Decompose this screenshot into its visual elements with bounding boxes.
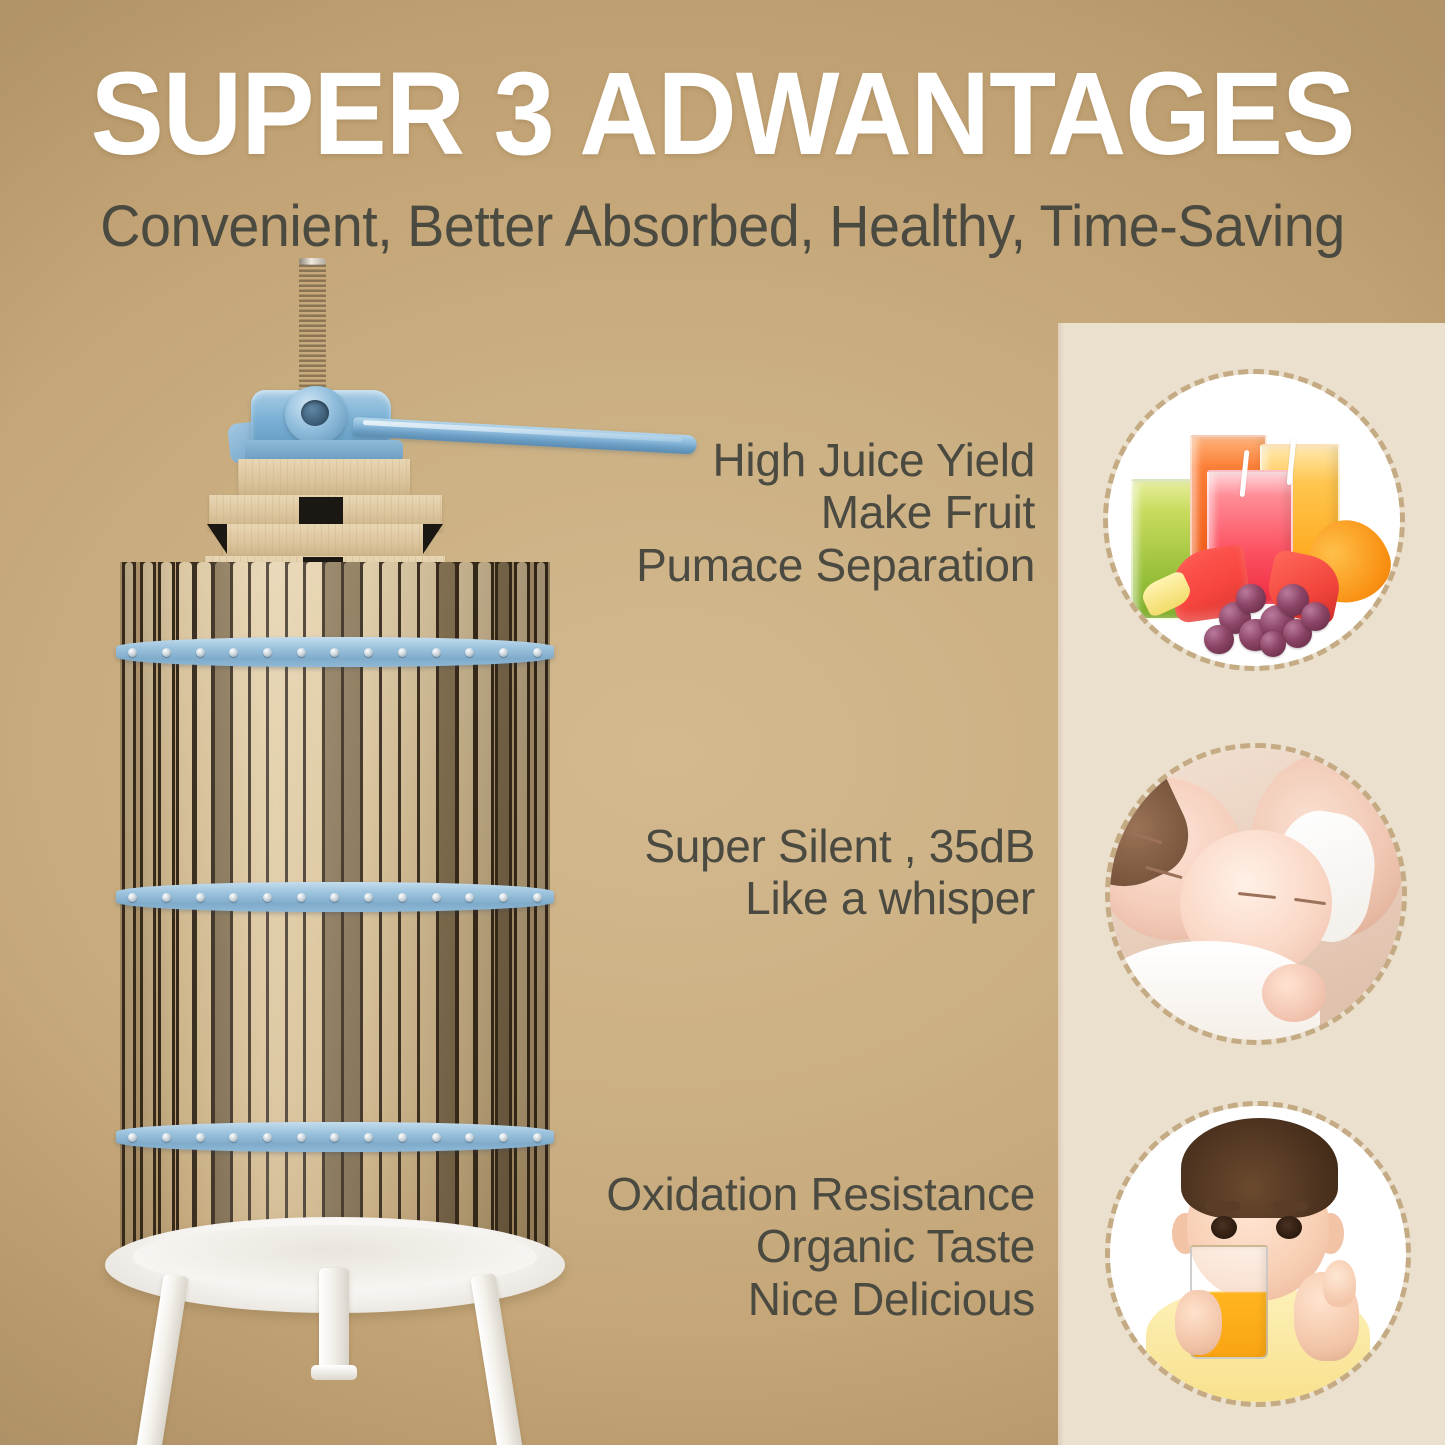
page-subtitle: Convenient, Better Absorbed, Healthy, Ti… xyxy=(29,196,1416,259)
baby-hand xyxy=(1262,964,1326,1022)
stand-leg-left xyxy=(134,1273,188,1445)
band-rivet xyxy=(196,1133,205,1142)
band-rivet xyxy=(297,648,306,657)
band-rivet xyxy=(229,648,238,657)
band-rivet xyxy=(432,648,441,657)
stand-leg-center xyxy=(319,1268,349,1373)
feature-text-super-silent: Super Silent , 35dB Like a whisper xyxy=(644,820,1035,925)
band-rivet xyxy=(330,893,339,902)
band-rivet xyxy=(297,1133,306,1142)
barrel-slat xyxy=(125,562,133,1262)
barrel-slat xyxy=(478,562,491,1262)
band-rivet xyxy=(465,893,474,902)
band-rivet xyxy=(499,1133,508,1142)
barrel-band-top xyxy=(116,637,554,667)
band-rivet xyxy=(196,648,205,657)
feature-line: Like a whisper xyxy=(644,872,1035,924)
press-block-1 xyxy=(238,459,410,497)
feature-line: Oxidation Resistance xyxy=(606,1168,1035,1220)
feature-text-high-juice-yield: High Juice Yield Make Fruit Pumace Separ… xyxy=(636,434,1035,591)
band-rivet xyxy=(364,648,373,657)
boy-thumb xyxy=(1323,1260,1356,1307)
barrel-slat xyxy=(459,562,473,1262)
boy-holding-hand xyxy=(1175,1290,1222,1355)
barrel-slat xyxy=(537,562,545,1262)
band-rivet xyxy=(398,1133,407,1142)
barrel-slat xyxy=(439,562,455,1262)
band-rivet xyxy=(465,1133,474,1142)
band-rivet xyxy=(263,1133,272,1142)
page-title: SUPER 3 ADWANTAGES xyxy=(51,54,1395,174)
boy-brow-right xyxy=(1273,1201,1309,1211)
band-rivet xyxy=(499,893,508,902)
feature-text-oxidation-resistance: Oxidation Resistance Organic Taste Nice … xyxy=(606,1168,1035,1325)
band-rivet xyxy=(465,648,474,657)
baby-photo-icon xyxy=(1110,748,1402,1040)
ratchet-bore-hole xyxy=(301,400,329,426)
band-rivet xyxy=(162,893,171,902)
press-barrel xyxy=(120,562,550,1262)
barrel-slat xyxy=(498,562,509,1262)
band-rivet xyxy=(128,648,137,657)
band-rivet xyxy=(196,893,205,902)
band-rivet xyxy=(297,893,306,902)
band-rivets-bottom xyxy=(116,1122,554,1152)
band-rivets-middle xyxy=(116,882,554,912)
band-rivet xyxy=(432,893,441,902)
feature-line: Nice Delicious xyxy=(606,1273,1035,1325)
band-rivet xyxy=(364,1133,373,1142)
press-block-notch-left xyxy=(207,524,227,554)
feature-line: Pumace Separation xyxy=(636,539,1035,591)
barrel-slat xyxy=(197,562,211,1262)
band-rivet xyxy=(128,1133,137,1142)
band-rivet xyxy=(330,648,339,657)
band-rivet xyxy=(398,648,407,657)
barrel-slat xyxy=(161,562,172,1262)
juice-photo-icon xyxy=(1108,374,1400,666)
barrel-slat xyxy=(143,562,153,1262)
band-rivet xyxy=(432,1133,441,1142)
feature-line: Make Fruit xyxy=(636,486,1035,538)
barrel-band-middle xyxy=(116,882,554,912)
feature-line: Organic Taste xyxy=(606,1220,1035,1272)
band-rivet xyxy=(128,893,137,902)
band-rivet xyxy=(330,1133,339,1142)
press-block-3 xyxy=(223,524,426,558)
feature-line: Super Silent , 35dB xyxy=(644,820,1035,872)
band-rivet xyxy=(263,893,272,902)
barrel-slat xyxy=(215,562,231,1262)
band-rivet xyxy=(533,893,542,902)
barrel-slat xyxy=(179,562,192,1262)
band-rivet xyxy=(533,648,542,657)
band-rivet xyxy=(162,648,171,657)
barrel-band-bottom xyxy=(116,1122,554,1152)
band-rivet xyxy=(263,648,272,657)
band-rivet xyxy=(533,1133,542,1142)
barrel-slat xyxy=(517,562,527,1262)
band-rivet xyxy=(229,893,238,902)
band-rivet xyxy=(499,648,508,657)
boy-photo-icon xyxy=(1110,1106,1406,1402)
stand-leg-right xyxy=(470,1273,524,1445)
boy-brow-left xyxy=(1205,1201,1241,1211)
band-rivet xyxy=(229,1133,238,1142)
band-rivet xyxy=(398,893,407,902)
band-rivet xyxy=(364,893,373,902)
band-rivet xyxy=(162,1133,171,1142)
press-block-notch-right xyxy=(423,524,443,554)
feature-line: High Juice Yield xyxy=(636,434,1035,486)
product-advantages-poster: SUPER 3 ADWANTAGES Convenient, Better Ab… xyxy=(0,0,1445,1445)
band-rivets-top xyxy=(116,637,554,667)
barrel-slat xyxy=(420,562,437,1262)
press-block-gap-1 xyxy=(299,497,343,527)
stand-foot-center xyxy=(311,1365,357,1380)
